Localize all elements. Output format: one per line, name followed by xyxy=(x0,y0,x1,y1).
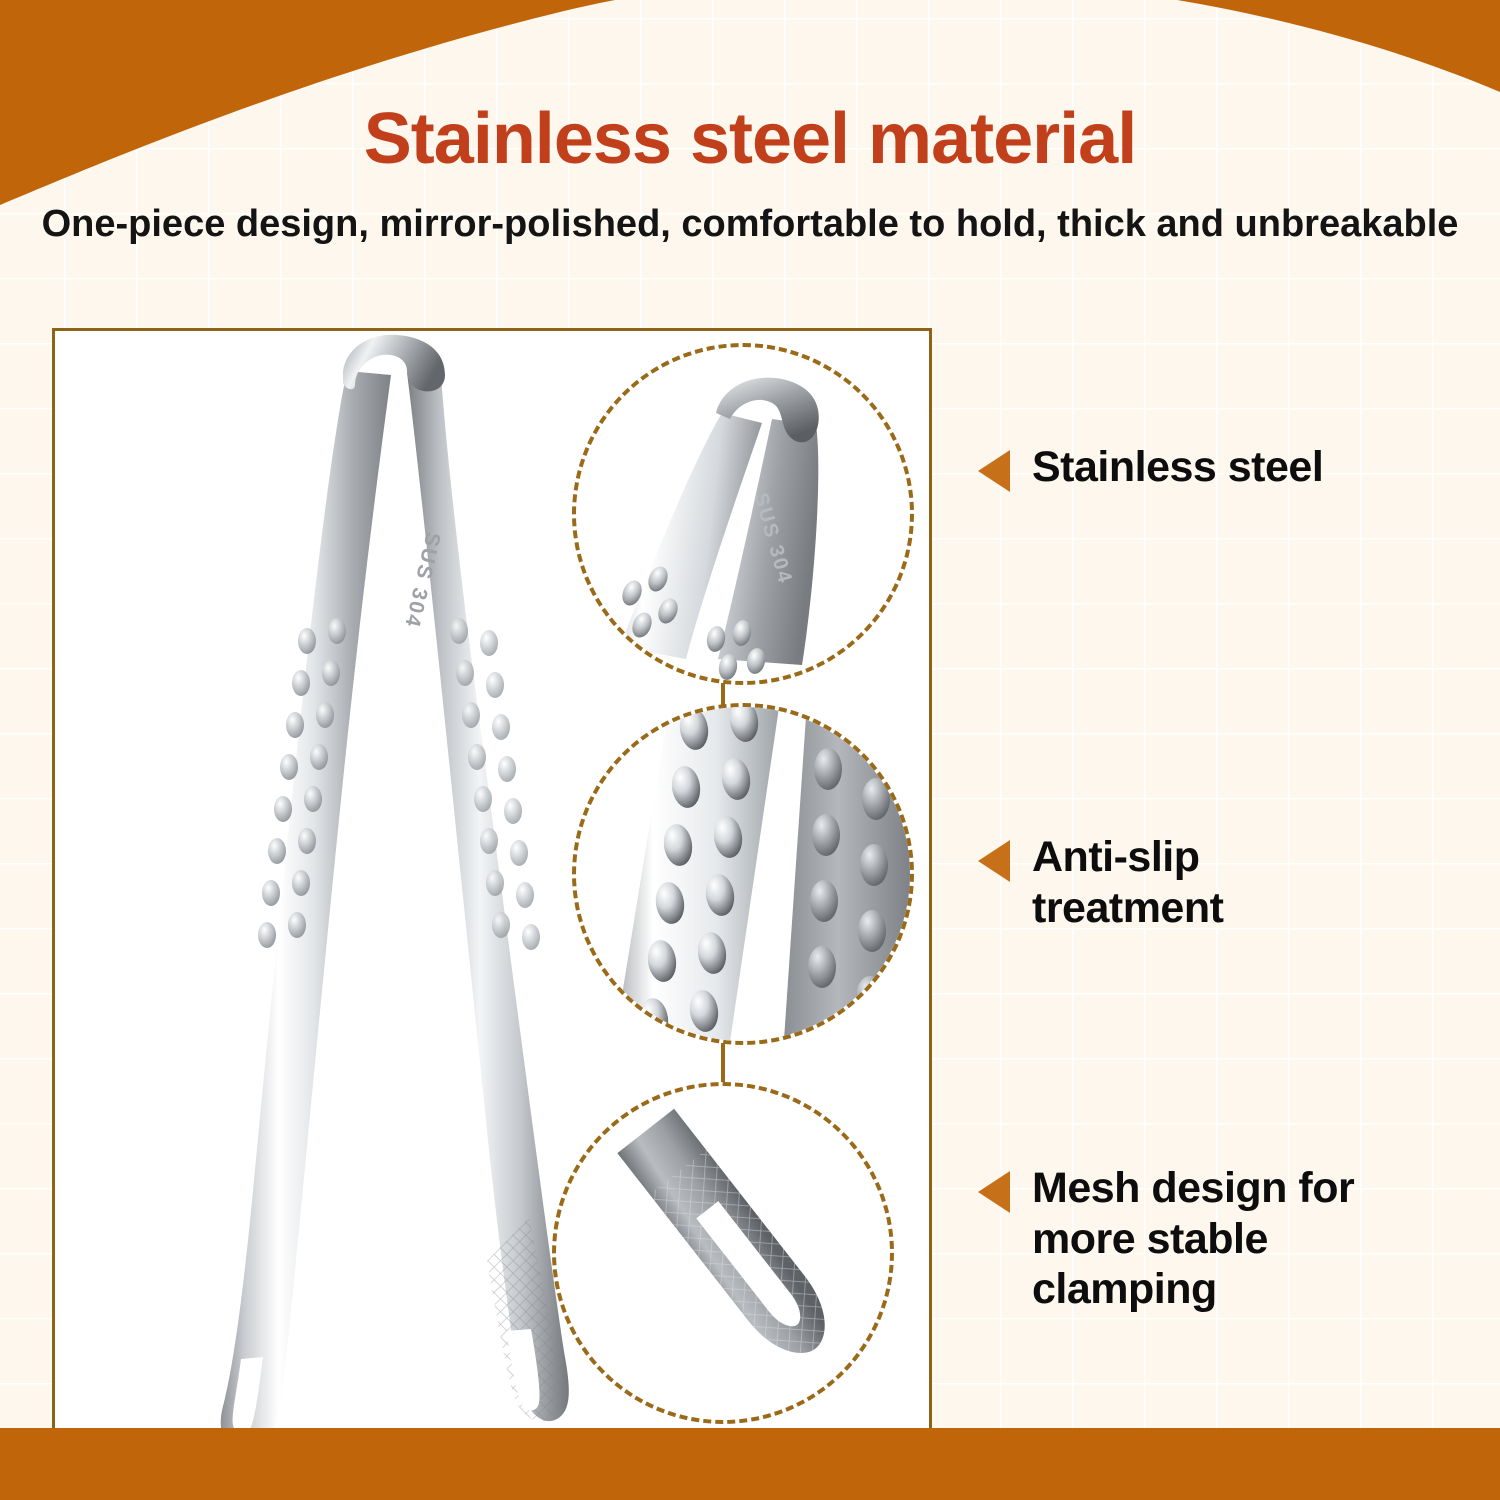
infographic-canvas: Stainless steel material One-piece desig… xyxy=(0,0,1500,1500)
left-triangle-icon xyxy=(978,450,1010,492)
callout-label: Anti-slip treatment xyxy=(1032,832,1223,933)
connector-line-2 xyxy=(721,1043,725,1085)
detail-circle-anti-slip xyxy=(572,703,914,1045)
left-triangle-icon xyxy=(978,1171,1010,1213)
callout-stainless-steel: Stainless steel xyxy=(978,442,1323,493)
callout-mesh-design: Mesh design for more stable clamping xyxy=(978,1163,1354,1315)
detail-circle-tong-tip: SUS 304 xyxy=(572,343,914,685)
left-triangle-icon xyxy=(978,840,1010,882)
page-title: Stainless steel material xyxy=(0,103,1500,175)
page-subtitle: One-piece design, mirror-polished, comfo… xyxy=(0,198,1500,252)
callout-label: Mesh design for more stable clamping xyxy=(1032,1163,1354,1315)
callout-anti-slip: Anti-slip treatment xyxy=(978,832,1223,933)
footer-orange-bar xyxy=(0,1428,1500,1500)
detail-circle-mesh-handle xyxy=(552,1082,894,1424)
callout-label: Stainless steel xyxy=(1032,442,1323,493)
